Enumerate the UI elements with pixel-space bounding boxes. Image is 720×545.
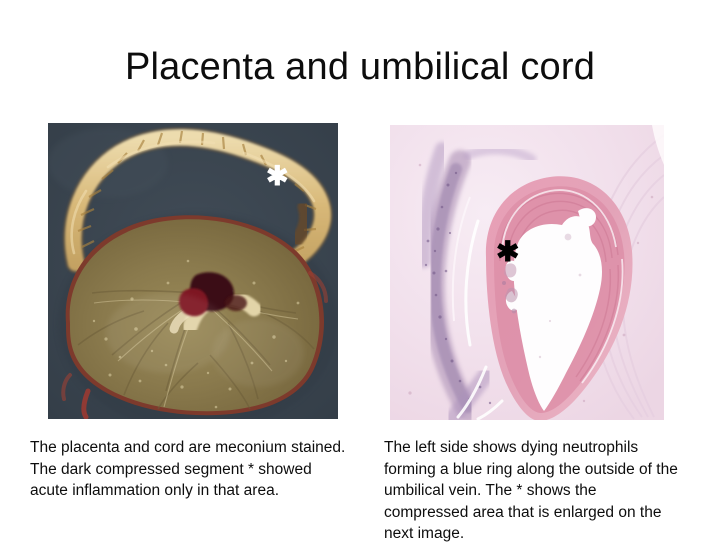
histology-illustration [390,125,664,420]
gross-photo-asterisk-marker: ✱ [266,163,289,190]
page-title: Placenta and umbilical cord [0,44,720,90]
umbilical-vein-histology-photo [390,125,664,420]
histology-asterisk-marker: ✱ [496,238,519,266]
caption-right: The left side shows dying neutrophils fo… [384,437,684,545]
placenta-gross-photo [48,123,338,419]
placenta-gross-illustration [48,123,338,419]
caption-left: The placenta and cord are meconium stain… [30,437,348,502]
